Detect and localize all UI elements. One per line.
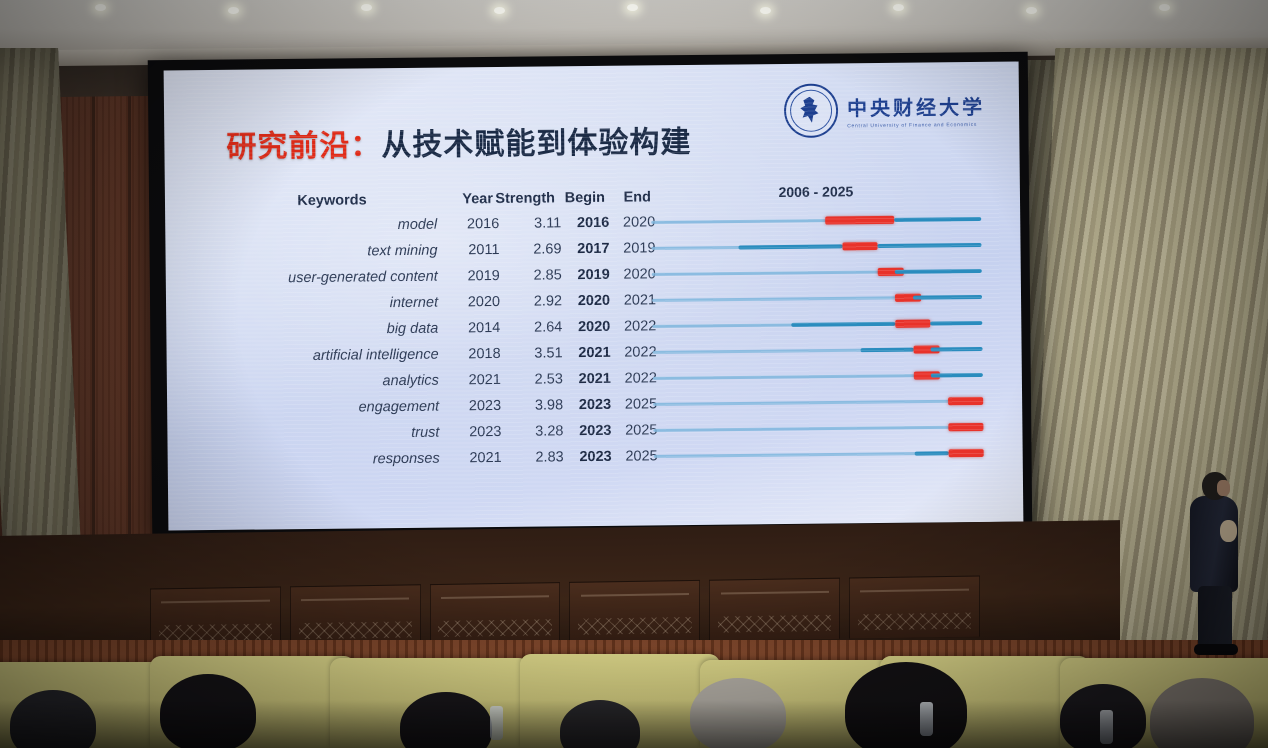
cell-keyword: analytics (229, 373, 445, 391)
slide-title-rest: 从技术赋能到体验构建 (381, 126, 691, 162)
cell-strength: 3.51 (501, 345, 563, 362)
pre-burst-segment (861, 348, 913, 353)
cell-year: 2011 (443, 242, 499, 259)
cell-year: 2023 (445, 398, 501, 415)
audience-seating (0, 640, 1268, 748)
citation-burst-bar (825, 216, 895, 225)
cell-year: 2020 (444, 294, 500, 311)
cell-strength: 3.98 (501, 397, 563, 414)
cell-begin: 2016 (561, 215, 609, 232)
stage-panel (430, 582, 561, 646)
post-burst-segment (877, 243, 981, 248)
conference-hall-scene: 中央财经大学 Central University of Finance and… (0, 0, 1268, 748)
post-burst-segment (895, 269, 982, 274)
ceiling-light (1026, 7, 1037, 14)
post-burst-segment (930, 347, 982, 352)
ceiling-light (361, 4, 372, 11)
burst-detection-table: Keywords Year Strength Begin End 2006 - … (227, 182, 970, 474)
audience-head (690, 678, 786, 748)
cell-keyword: big data (228, 321, 444, 339)
water-bottle (920, 702, 933, 736)
ceiling-light (1159, 4, 1170, 11)
cell-begin: 2023 (564, 449, 612, 466)
logo-chinese-name: 中央财经大学 (847, 90, 985, 120)
timeline-track (653, 362, 969, 391)
presentation-slide: 中央财经大学 Central University of Finance and… (164, 62, 1024, 531)
water-bottle (490, 706, 503, 740)
header-year: Year (437, 191, 493, 208)
cell-strength: 2.83 (502, 449, 564, 466)
cell-keyword: model (227, 217, 443, 235)
water-bottle (1100, 710, 1113, 744)
cell-keyword: responses (230, 451, 446, 469)
timeline-baseline (653, 400, 969, 406)
cell-begin: 2019 (562, 267, 610, 284)
header-begin: Begin (555, 190, 605, 207)
post-burst-segment (930, 321, 982, 326)
cell-strength: 2.69 (499, 241, 561, 258)
presenter-person (1186, 472, 1250, 660)
slide-title-highlight: 研究前沿： (226, 129, 381, 164)
pre-burst-segment (738, 244, 842, 249)
cell-begin: 2017 (561, 241, 609, 258)
timeline-track (651, 206, 967, 235)
logo-english-name: Central University of Finance and Econom… (847, 121, 985, 128)
citation-burst-bar (948, 397, 983, 405)
timeline-track (652, 284, 968, 313)
slide-title: 研究前沿：从技术赋能到体验构建 (226, 117, 691, 166)
timeline-track (652, 258, 968, 287)
audience-head (845, 662, 967, 748)
post-burst-segment (913, 295, 983, 300)
cell-begin: 2023 (563, 423, 611, 440)
cell-strength: 3.28 (501, 423, 563, 440)
cell-strength: 2.85 (500, 267, 562, 284)
citation-burst-bar (949, 449, 984, 457)
ceiling-light (494, 7, 505, 14)
timeline-track (654, 440, 970, 469)
university-logo: 中央财经大学 Central University of Finance and… (784, 82, 986, 138)
timeline-baseline (653, 426, 969, 432)
university-emblem-icon (784, 83, 839, 138)
cell-year: 2023 (445, 424, 501, 441)
timeline-range-label: 2006 - 2025 (651, 182, 981, 201)
timeline-track (653, 414, 969, 443)
cell-year: 2021 (445, 372, 501, 389)
cell-year: 2021 (446, 450, 502, 467)
ceiling-light (95, 4, 106, 11)
stage-panel (849, 575, 980, 639)
citation-burst-bar (949, 423, 984, 431)
cell-begin: 2021 (563, 345, 611, 362)
cell-strength: 2.53 (501, 371, 563, 388)
header-keywords: Keywords (227, 192, 437, 210)
timeline-track (651, 232, 967, 261)
cell-keyword: artificial intelligence (229, 347, 445, 365)
cell-begin: 2021 (563, 371, 611, 388)
header-strength: Strength (493, 190, 555, 207)
citation-burst-bar (842, 242, 877, 250)
header-end: End (605, 189, 655, 206)
ceiling-light (893, 4, 904, 11)
pre-burst-segment (914, 451, 949, 455)
cell-begin: 2023 (563, 397, 611, 414)
cell-strength: 3.11 (499, 215, 561, 232)
cell-strength: 2.92 (500, 293, 562, 310)
ceiling-light (228, 7, 239, 14)
cell-begin: 2020 (562, 319, 610, 336)
cell-year: 2014 (444, 320, 500, 337)
ceiling-light (627, 4, 638, 11)
citation-burst-bar (895, 319, 930, 327)
ceiling-light (760, 7, 771, 14)
cell-strength: 2.64 (500, 319, 562, 336)
timeline-track (652, 310, 968, 339)
cell-keyword: internet (228, 295, 444, 313)
timeline-track (653, 388, 969, 417)
cell-year: 2019 (444, 268, 500, 285)
table-body: model20163.1120162020text mining20112.69… (227, 206, 970, 474)
post-burst-segment (894, 217, 981, 222)
pre-burst-segment (791, 322, 895, 327)
stage-panel (290, 584, 421, 648)
stage-panel (569, 580, 700, 644)
cell-keyword: engagement (229, 399, 445, 417)
cell-begin: 2020 (562, 293, 610, 310)
post-burst-segment (931, 373, 983, 378)
audience-head (160, 674, 256, 748)
cell-keyword: trust (229, 425, 445, 443)
stage-panel (709, 578, 840, 642)
timeline-track (652, 336, 968, 365)
cell-year: 2016 (443, 216, 499, 233)
cell-year: 2018 (445, 346, 501, 363)
cell-keyword: text mining (227, 243, 443, 261)
cell-keyword: user-generated content (228, 269, 444, 287)
